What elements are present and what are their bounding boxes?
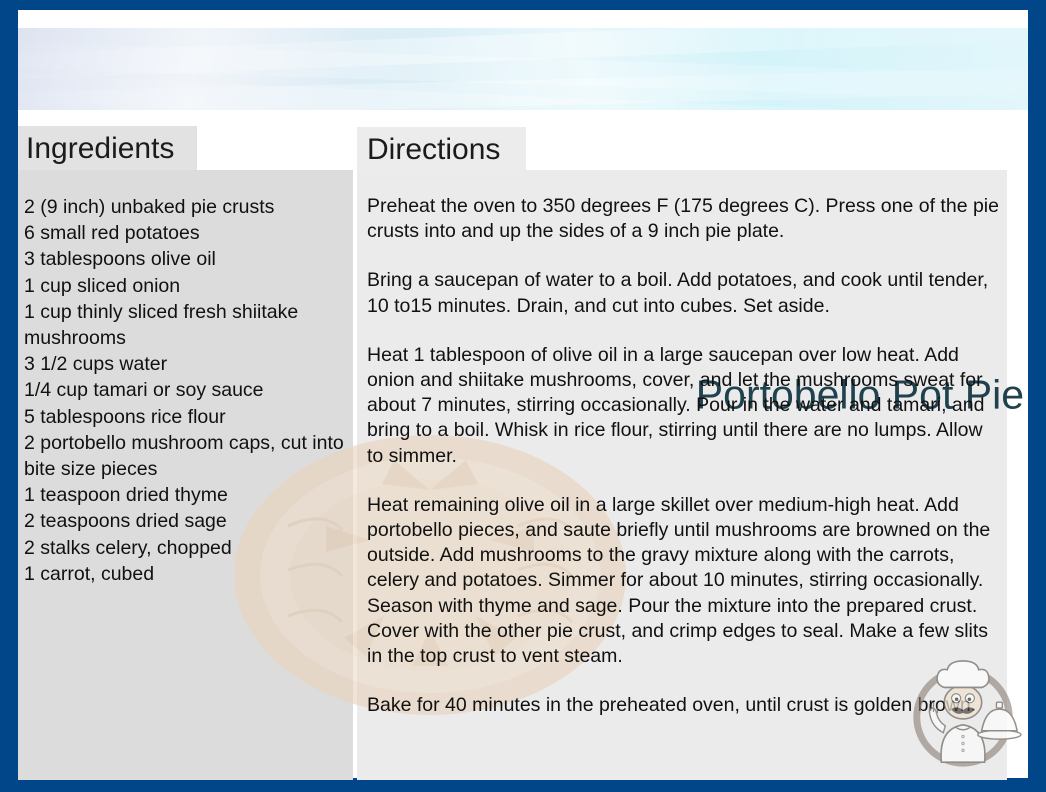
- list-item: 2 teaspoons dried sage: [24, 508, 346, 534]
- directions-heading: Directions: [367, 132, 500, 168]
- list-item: 1 cup sliced onion: [24, 273, 346, 299]
- recipe-slide: Portobello Pot Pie Ingredients 2 (9 in: [0, 0, 1046, 792]
- list-item: 1 teaspoon dried thyme: [24, 482, 346, 508]
- ingredients-list: 2 (9 inch) unbaked pie crusts 6 small re…: [24, 194, 346, 587]
- direction-step: Heat remaining olive oil in a large skil…: [367, 493, 1001, 669]
- list-item: 1 carrot, cubed: [24, 561, 346, 587]
- list-item: 2 portobello mushroom caps, cut into bit…: [24, 430, 346, 482]
- list-item: 3 tablespoons olive oil: [24, 246, 346, 272]
- list-item: 2 (9 inch) unbaked pie crusts: [24, 194, 346, 220]
- direction-step: Preheat the oven to 350 degrees F (175 d…: [367, 194, 1001, 244]
- banner-streak: [18, 39, 1028, 103]
- list-item: 5 tablespoons rice flour: [24, 404, 346, 430]
- banner-streak: [18, 71, 1028, 110]
- direction-step: Bake for 40 minutes in the preheated ove…: [367, 693, 1001, 718]
- list-item: 3 1/2 cups water: [24, 351, 346, 377]
- list-item: 2 stalks celery, chopped: [24, 535, 346, 561]
- ingredients-heading: Ingredients: [26, 131, 174, 167]
- title-banner: [18, 28, 1028, 110]
- list-item: 1 cup thinly sliced fresh shiitake mushr…: [24, 299, 346, 351]
- banner-streak: [18, 65, 1028, 110]
- direction-step: Bring a saucepan of water to a boil. Add…: [367, 268, 1001, 318]
- list-item: 6 small red potatoes: [24, 220, 346, 246]
- direction-step: Heat 1 tablespoon of olive oil in a larg…: [367, 343, 1001, 469]
- list-item: 1/4 cup tamari or soy sauce: [24, 377, 346, 403]
- banner-streak: [18, 28, 1028, 83]
- directions-body: Preheat the oven to 350 degrees F (175 d…: [367, 194, 1001, 718]
